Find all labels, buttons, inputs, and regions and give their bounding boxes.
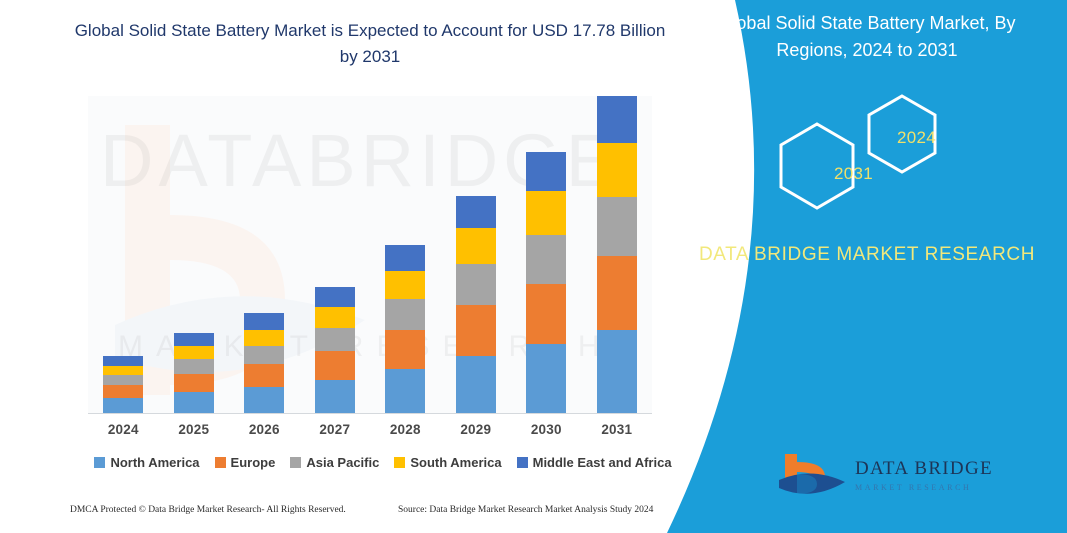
bar-segment[interactable] bbox=[174, 392, 214, 413]
x-axis-line bbox=[88, 413, 652, 414]
bar-segment[interactable] bbox=[103, 375, 143, 385]
bar-segment[interactable] bbox=[526, 284, 566, 344]
footer-source: Source: Data Bridge Market Research Mark… bbox=[398, 505, 653, 515]
legend-item[interactable]: Middle East and Africa bbox=[517, 455, 672, 470]
bar-segment[interactable] bbox=[597, 197, 637, 256]
stacked-bar[interactable] bbox=[315, 287, 355, 413]
bar-column[interactable] bbox=[582, 96, 653, 413]
x-axis-label: 2028 bbox=[370, 422, 441, 437]
bar-segment[interactable] bbox=[244, 330, 284, 346]
legend-label: Europe bbox=[231, 455, 276, 470]
legend-label: South America bbox=[410, 455, 501, 470]
legend-label: Asia Pacific bbox=[306, 455, 379, 470]
legend-item[interactable]: South America bbox=[394, 455, 501, 470]
bar-segment[interactable] bbox=[315, 351, 355, 380]
legend-swatch-icon bbox=[394, 457, 405, 468]
bar-segment[interactable] bbox=[174, 359, 214, 374]
bar-segment[interactable] bbox=[385, 369, 425, 413]
bar-segment[interactable] bbox=[385, 245, 425, 271]
bar-segment[interactable] bbox=[174, 333, 214, 346]
legend-swatch-icon bbox=[517, 457, 528, 468]
bar-segment[interactable] bbox=[103, 366, 143, 376]
side-panel-content: Global Solid State Battery Market, By Re… bbox=[667, 0, 1067, 533]
bar-segment[interactable] bbox=[244, 364, 284, 387]
bar-segment[interactable] bbox=[174, 374, 214, 392]
bar-segment[interactable] bbox=[315, 287, 355, 307]
bar-column[interactable] bbox=[370, 96, 441, 413]
legend-item[interactable]: North America bbox=[94, 455, 199, 470]
legend-label: North America bbox=[110, 455, 199, 470]
bar-segment[interactable] bbox=[456, 196, 496, 229]
bar-column[interactable] bbox=[229, 96, 300, 413]
bar-segment[interactable] bbox=[315, 307, 355, 328]
bar-column[interactable] bbox=[511, 96, 582, 413]
bar-segment[interactable] bbox=[315, 328, 355, 351]
bar-segment[interactable] bbox=[456, 228, 496, 264]
bar-segment[interactable] bbox=[103, 356, 143, 366]
legend-item[interactable]: Europe bbox=[215, 455, 276, 470]
bar-column[interactable] bbox=[88, 96, 159, 413]
hex-badge-group: 2024 2031 bbox=[742, 88, 1002, 218]
bar-segment[interactable] bbox=[456, 264, 496, 305]
stacked-bar[interactable] bbox=[597, 96, 637, 413]
hex-badge-outlines bbox=[742, 88, 1002, 218]
bar-segment[interactable] bbox=[526, 235, 566, 284]
legend-swatch-icon bbox=[290, 457, 301, 468]
hex-badge-2031-label: 2031 bbox=[834, 164, 873, 184]
bar-segment[interactable] bbox=[385, 299, 425, 330]
bar-segment[interactable] bbox=[315, 380, 355, 413]
stacked-bar[interactable] bbox=[385, 245, 425, 413]
brand-logo-text: DATA BRIDGE MARKET RESEARCH bbox=[855, 458, 993, 492]
brand-logo-mark-icon bbox=[777, 450, 849, 508]
bar-segment[interactable] bbox=[456, 305, 496, 356]
x-axis-label: 2030 bbox=[511, 422, 582, 437]
brand-logo: DATA BRIDGE MARKET RESEARCH bbox=[777, 450, 1042, 512]
hex-badge-2024-label: 2024 bbox=[897, 128, 936, 148]
chart-legend: North AmericaEuropeAsia PacificSouth Ame… bbox=[88, 455, 678, 470]
bar-column[interactable] bbox=[159, 96, 230, 413]
bar-segment[interactable] bbox=[244, 313, 284, 329]
x-axis-label: 2024 bbox=[88, 422, 159, 437]
bar-group bbox=[88, 96, 652, 413]
bar-segment[interactable] bbox=[385, 330, 425, 369]
stacked-bar[interactable] bbox=[174, 333, 214, 413]
bar-segment[interactable] bbox=[174, 346, 214, 359]
stacked-bar[interactable] bbox=[456, 196, 496, 413]
brand-logo-name: DATA BRIDGE bbox=[855, 458, 993, 480]
bar-segment[interactable] bbox=[526, 344, 566, 413]
infographic-page: DATABRIDGE MARKET RESEARCH Global Solid … bbox=[0, 0, 1067, 533]
bar-segment[interactable] bbox=[385, 271, 425, 299]
bar-segment[interactable] bbox=[597, 330, 637, 413]
bar-segment[interactable] bbox=[456, 356, 496, 413]
x-axis-labels: 20242025202620272028202920302031 bbox=[88, 422, 652, 437]
legend-swatch-icon bbox=[94, 457, 105, 468]
chart-title: Global Solid State Battery Market is Exp… bbox=[70, 18, 670, 70]
bar-segment[interactable] bbox=[526, 191, 566, 235]
x-axis-label: 2026 bbox=[229, 422, 300, 437]
bar-segment[interactable] bbox=[103, 385, 143, 398]
plot-area bbox=[88, 96, 652, 414]
bar-column[interactable] bbox=[300, 96, 371, 413]
side-panel-brand: DATA BRIDGE MARKET RESEARCH bbox=[697, 240, 1037, 269]
legend-item[interactable]: Asia Pacific bbox=[290, 455, 379, 470]
x-axis-label: 2031 bbox=[582, 422, 653, 437]
bar-segment[interactable] bbox=[244, 387, 284, 413]
bar-segment[interactable] bbox=[597, 143, 637, 197]
chart-panel: DATABRIDGE MARKET RESEARCH Global Solid … bbox=[0, 0, 740, 533]
bar-column[interactable] bbox=[441, 96, 512, 413]
footer-copyright: DMCA Protected © Data Bridge Market Rese… bbox=[70, 505, 346, 515]
bar-segment[interactable] bbox=[597, 256, 637, 330]
bar-segment[interactable] bbox=[526, 152, 566, 191]
footer: DMCA Protected © Data Bridge Market Rese… bbox=[0, 505, 720, 527]
legend-label: Middle East and Africa bbox=[533, 455, 672, 470]
x-axis-label: 2029 bbox=[441, 422, 512, 437]
x-axis-label: 2025 bbox=[159, 422, 230, 437]
bar-segment[interactable] bbox=[103, 398, 143, 413]
x-axis-label: 2027 bbox=[300, 422, 371, 437]
brand-logo-subtitle: MARKET RESEARCH bbox=[855, 483, 993, 492]
stacked-bar[interactable] bbox=[526, 152, 566, 413]
bar-segment[interactable] bbox=[244, 346, 284, 364]
side-panel-title: Global Solid State Battery Market, By Re… bbox=[687, 10, 1047, 64]
stacked-bar[interactable] bbox=[244, 313, 284, 413]
legend-swatch-icon bbox=[215, 457, 226, 468]
bar-segment[interactable] bbox=[597, 96, 637, 143]
stacked-bar[interactable] bbox=[103, 356, 143, 413]
